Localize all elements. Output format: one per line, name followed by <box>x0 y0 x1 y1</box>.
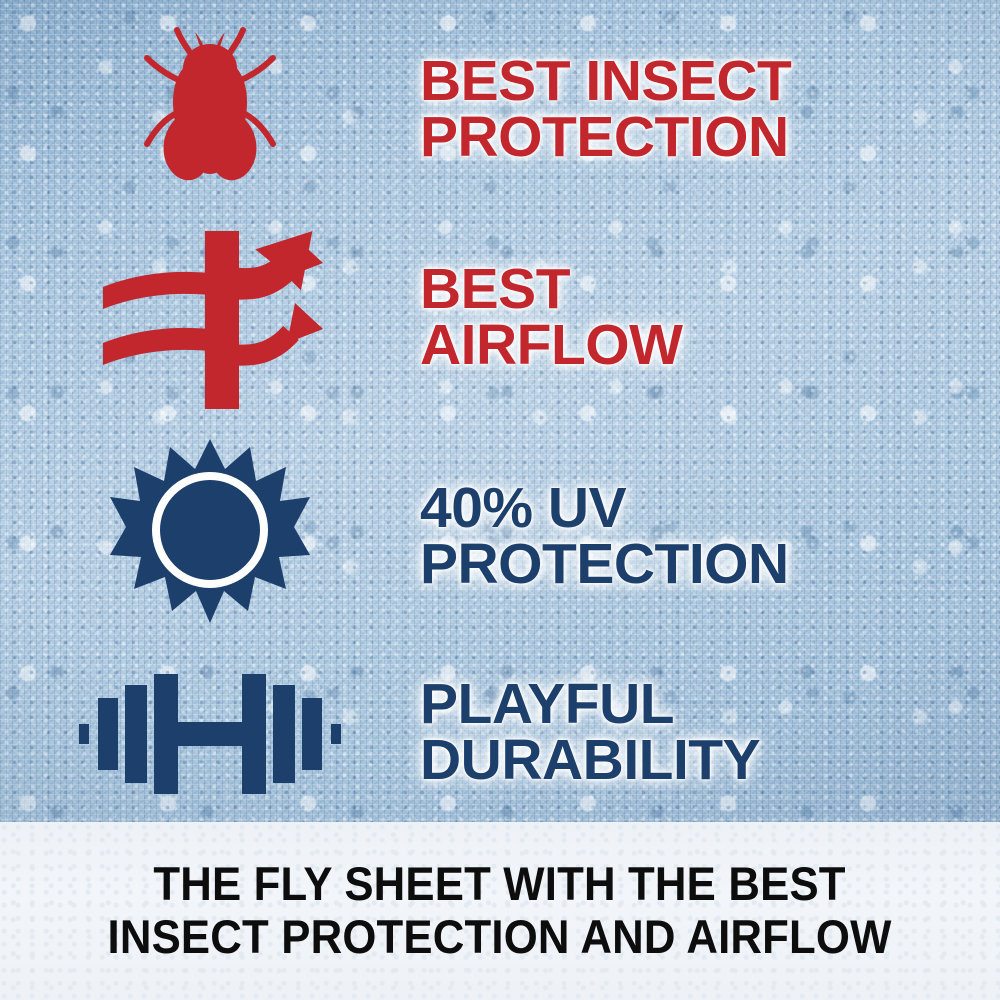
airflow-icon-cell <box>0 223 420 413</box>
caption-line-1: THE FLY SHEET WITH THE BEST <box>108 858 892 911</box>
heading-line-1: PLAYFUL <box>420 677 982 733</box>
product-feature-poster: BEST INSECT PROTECTION <box>0 0 1000 1000</box>
durability-text-cell: PLAYFUL DURABILITY <box>420 677 1000 789</box>
caption-line-2: INSECT PROTECTION AND AIRFLOW <box>108 911 892 964</box>
insect-protection-text-cell: BEST INSECT PROTECTION <box>420 54 1000 166</box>
uv-protection-text-cell: 40% UV PROTECTION <box>420 481 1000 593</box>
fly-insect-icon <box>135 20 285 200</box>
heading-line-2: AIRFLOW <box>420 318 982 374</box>
feature-heading-insect-protection: BEST INSECT PROTECTION <box>420 54 982 166</box>
dumbbell-icon-cell <box>0 668 420 798</box>
heading-line-1: 40% UV <box>420 481 982 537</box>
fly-insect-icon-cell <box>0 20 420 200</box>
heading-line-2: PROTECTION <box>420 110 982 166</box>
feature-row-uv-protection: 40% UV PROTECTION <box>0 432 1000 642</box>
sun-uv-icon <box>110 437 310 637</box>
caption-band: THE FLY SHEET WITH THE BEST INSECT PROTE… <box>0 822 1000 1000</box>
sun-uv-icon-cell <box>0 437 420 637</box>
feature-heading-airflow: BEST AIRFLOW <box>420 262 982 374</box>
airflow-arrows-through-barrier-icon <box>95 223 325 413</box>
feature-heading-uv-protection: 40% UV PROTECTION <box>420 481 982 593</box>
feature-row-durability: PLAYFUL DURABILITY <box>0 645 1000 820</box>
heading-line-1: BEST <box>420 262 982 318</box>
dumbbell-durability-icon <box>79 668 341 798</box>
heading-line-2: DURABILITY <box>420 733 982 789</box>
heading-line-1: BEST INSECT <box>420 54 982 110</box>
airflow-text-cell: BEST AIRFLOW <box>420 262 1000 374</box>
feature-row-insect-protection: BEST INSECT PROTECTION <box>0 10 1000 210</box>
feature-row-airflow: BEST AIRFLOW <box>0 215 1000 420</box>
poster-caption: THE FLY SHEET WITH THE BEST INSECT PROTE… <box>108 858 892 963</box>
feature-list: BEST INSECT PROTECTION <box>0 0 1000 822</box>
heading-line-2: PROTECTION <box>420 537 982 593</box>
feature-heading-durability: PLAYFUL DURABILITY <box>420 677 982 789</box>
